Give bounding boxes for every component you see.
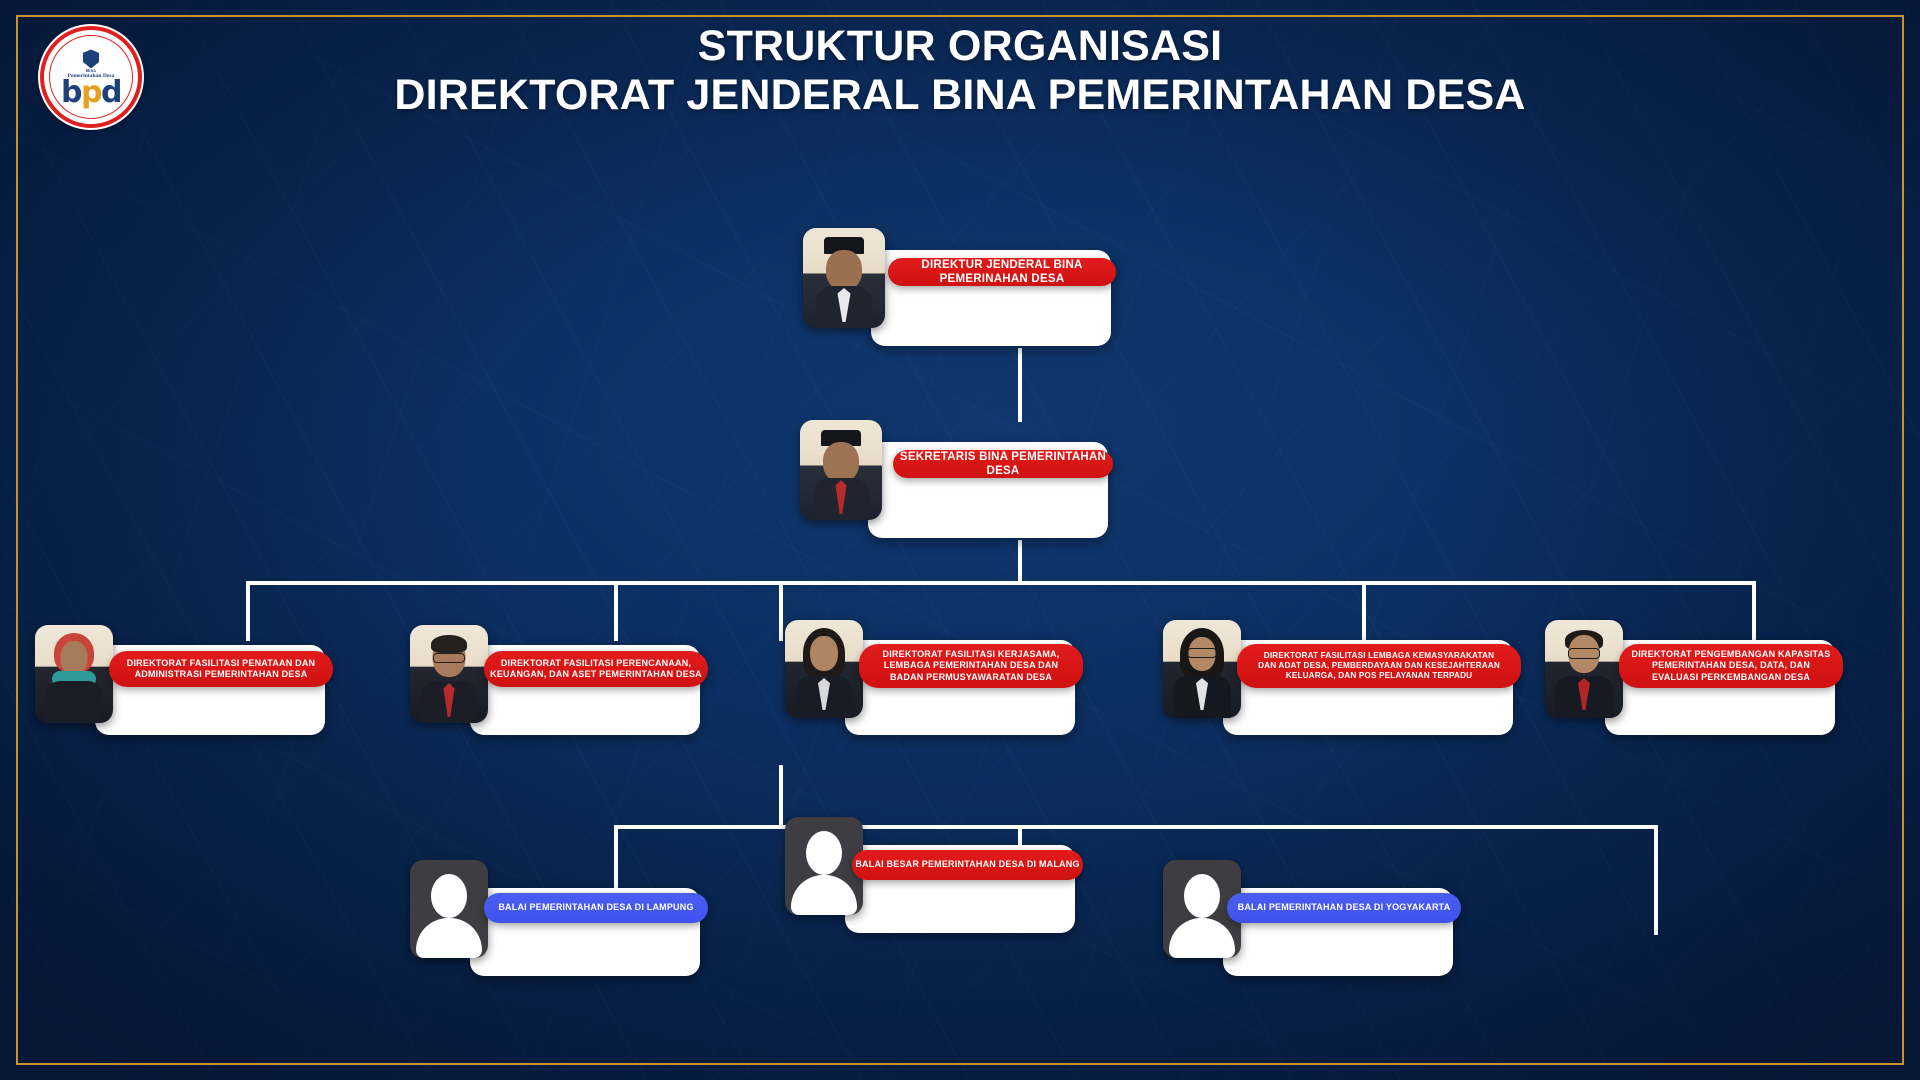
connector-drop-direktorat-3: [779, 581, 783, 641]
header-direktorat-5: DIREKTORAT PENGEMBANGAN KAPASITAS PEMERI…: [1619, 644, 1843, 688]
org-chart-poster: Bina Pemerintahan Desa bpd STRUKTUR ORGA…: [0, 0, 1920, 1080]
header-sekretaris: SEKRETARIS BINA PEMERINTAHAN DESA: [893, 450, 1113, 478]
header-direktorat-3-line1: DIREKTORAT FASILITASI KERJASAMA,: [883, 649, 1060, 660]
page-title: STRUKTUR ORGANISASI DIREKTORAT JENDERAL …: [0, 22, 1920, 120]
header-direktorat-1: DIREKTORAT FASILITASI PENATAAN DAN ADMIN…: [109, 651, 333, 687]
title-line-1: STRUKTUR ORGANISASI: [0, 22, 1920, 71]
connector-directorate-bus: [246, 581, 1756, 585]
header-sekretaris-label: SEKRETARIS BINA PEMERINTAHAN DESA: [893, 450, 1113, 479]
header-direktorat-3: DIREKTORAT FASILITASI KERJASAMA, LEMBAGA…: [859, 644, 1083, 688]
header-balai-malang-label: BALAI BESAR PEMERINTAHAN DESA DI MALANG: [855, 859, 1079, 870]
avatar-head-icon: [806, 831, 842, 875]
header-balai-yogyakarta-label: BALAI PEMERINTAHAN DESA DI YOGYAKARTA: [1238, 902, 1451, 913]
connector-dirjen-to-sekretaris: [1018, 348, 1022, 422]
avatar-body-icon: [791, 875, 857, 915]
avatar-direktorat-2: [410, 625, 488, 723]
avatar-body-icon: [416, 918, 482, 958]
connector-drop-direktorat-4: [1362, 581, 1366, 641]
header-dirjen-label: DIREKTUR JENDERAL BINA PEMERINAHAN DESA: [888, 258, 1116, 287]
header-direktorat-4: DIREKTORAT FASILITASI LEMBAGA KEMASYARAK…: [1237, 644, 1521, 688]
header-direktorat-3-line3: BADAN PERMUSYAWARATAN DESA: [890, 672, 1052, 683]
avatar-head-icon: [1184, 874, 1220, 918]
header-direktorat-5-line1: DIREKTORAT PENGEMBANGAN KAPASITAS: [1632, 649, 1831, 660]
avatar-placeholder-lampung: [410, 860, 488, 958]
header-direktorat-5-line3: EVALUASI PERKEMBANGAN DESA: [1652, 672, 1810, 683]
avatar-body-icon: [1169, 918, 1235, 958]
connector-drop-direktorat-2: [614, 581, 618, 641]
header-direktorat-1-line1: DIREKTORAT FASILITASI PENATAAN DAN: [127, 658, 315, 669]
avatar-head-icon: [431, 874, 467, 918]
avatar-direktorat-5: [1545, 620, 1623, 718]
header-direktorat-4-line2: DAN ADAT DESA, PEMBERDAYAAN DAN KESEJAHT…: [1258, 661, 1500, 671]
header-direktorat-4-line1: DIREKTORAT FASILITASI LEMBAGA KEMASYARAK…: [1264, 651, 1494, 661]
avatar-direktorat-3: [785, 620, 863, 718]
connector-drop-balai-3: [1654, 825, 1658, 935]
header-balai-yogyakarta: BALAI PEMERINTAHAN DESA DI YOGYAKARTA: [1227, 893, 1461, 923]
avatar-direktorat-1: [35, 625, 113, 723]
header-dirjen: DIREKTUR JENDERAL BINA PEMERINAHAN DESA: [888, 258, 1116, 286]
header-direktorat-3-line2: LEMBAGA PEMERINTAHAN DESA DAN: [884, 660, 1058, 671]
connector-drop-direktorat-1: [246, 581, 250, 641]
header-direktorat-5-line2: PEMERINTAHAN DESA, DATA, DAN: [1652, 660, 1810, 671]
connector-balai-bus: [614, 825, 1658, 829]
connector-drop-direktorat-5: [1752, 581, 1756, 641]
connector-sekretaris-down: [1018, 540, 1022, 584]
avatar-direktorat-4: [1163, 620, 1241, 718]
connector-stem-to-balai: [779, 765, 783, 829]
avatar-sekretaris: [800, 420, 882, 520]
header-balai-malang: BALAI BESAR PEMERINTAHAN DESA DI MALANG: [852, 850, 1083, 880]
header-direktorat-2: DIREKTORAT FASILITASI PERENCANAAN, KEUAN…: [484, 651, 708, 687]
header-direktorat-2-line1: DIREKTORAT FASILITASI PERENCANAAN,: [501, 658, 691, 669]
header-direktorat-1-line2: ADMINISTRASI PEMERINTAHAN DESA: [135, 669, 308, 680]
avatar-dirjen: [803, 228, 885, 328]
header-direktorat-2-line2: KEUANGAN, DAN ASET PEMERINTAHAN DESA: [490, 669, 702, 680]
title-line-2: DIREKTORAT JENDERAL BINA PEMERINTAHAN DE…: [0, 71, 1920, 120]
header-direktorat-4-line3: KELUARGA, DAN POS PELAYANAN TERPADU: [1286, 671, 1472, 681]
header-balai-lampung: BALAI PEMERINTAHAN DESA DI LAMPUNG: [484, 893, 708, 923]
header-balai-lampung-label: BALAI PEMERINTAHAN DESA DI LAMPUNG: [498, 902, 693, 913]
